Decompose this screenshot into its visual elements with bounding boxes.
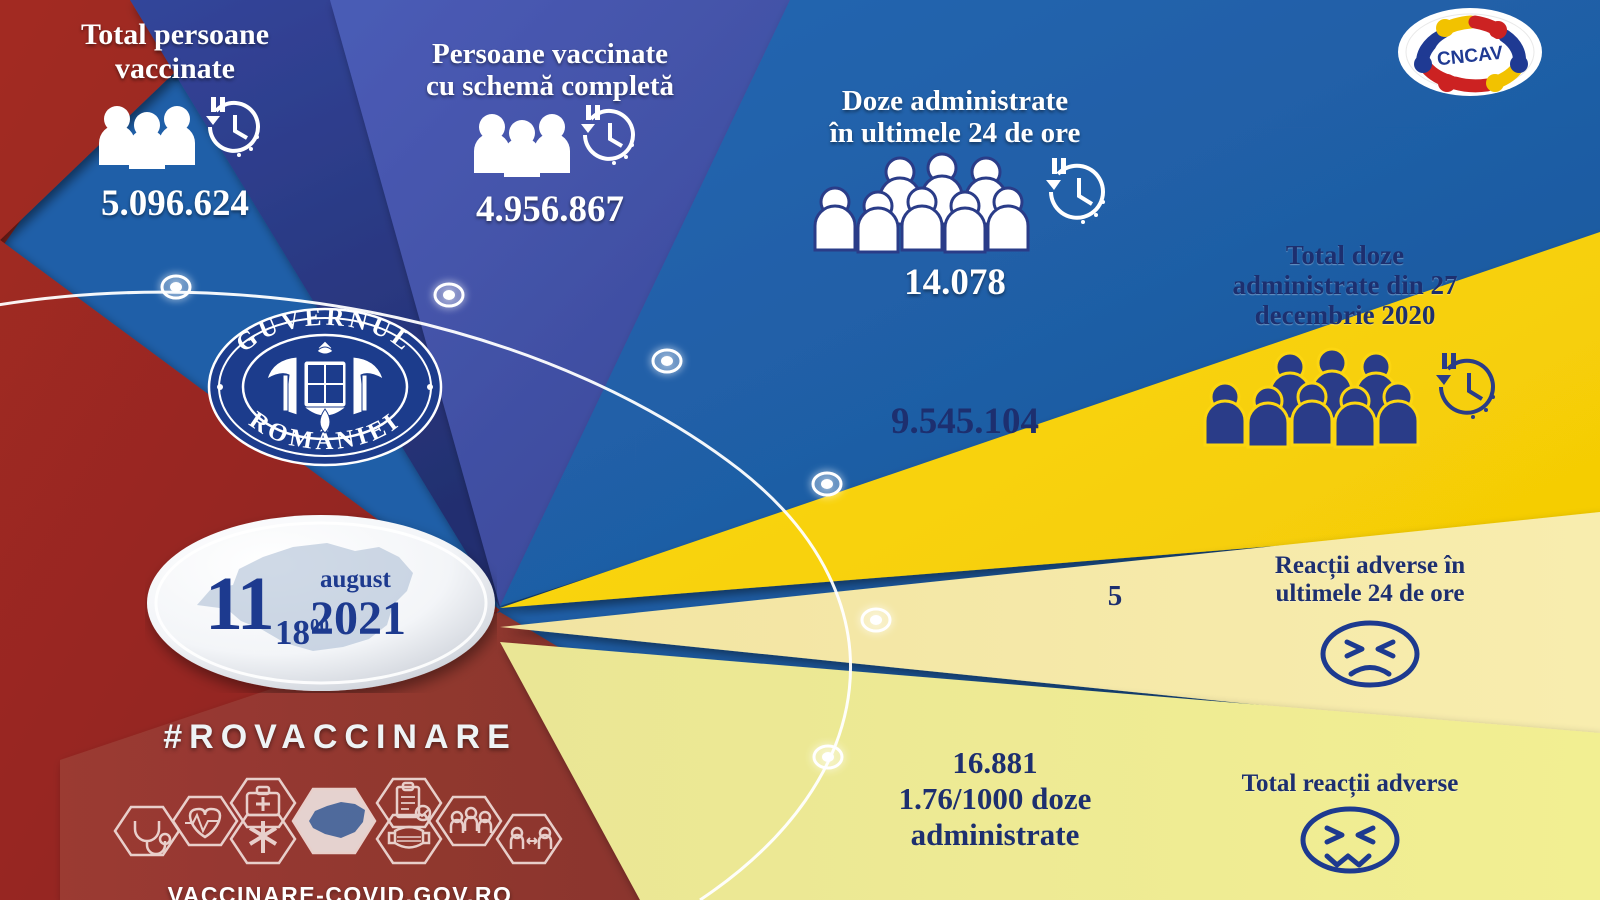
- value-line1: 16.881: [830, 745, 1160, 781]
- people-clock-icon: [75, 95, 275, 175]
- heartbeat-icon: [173, 797, 237, 845]
- panel-title-line1: Total doze: [1150, 240, 1540, 270]
- panel-title-line1: Persoane vaccinate: [355, 38, 745, 70]
- panel-persoane-schema-completa: Persoane vaccinate cu schemă completă 4.…: [355, 38, 745, 230]
- panel-total-persoane-vaccinate: Total persoane vaccinate 5.096.624: [10, 18, 340, 225]
- panel-total-doze-administrate: Total doze administrate din 27 decembrie…: [1150, 240, 1540, 455]
- face-mask-icon: [377, 815, 441, 863]
- panel-value: 5.096.624: [10, 183, 340, 224]
- panel-title-line2: ultimele 24 de ore: [1190, 580, 1550, 608]
- value-line3: administrate: [830, 817, 1160, 853]
- panel-title-line1: Total persoane: [10, 18, 340, 52]
- brand-hashtag: #ROVACCINARE: [105, 718, 575, 757]
- panel-title-line1: Reacții adverse în: [1190, 552, 1550, 580]
- clipboard-check-icon: [377, 779, 441, 827]
- panel-title-line2: cu schemă completă: [355, 70, 745, 102]
- panel-title-line1: Doze administrate: [735, 85, 1175, 117]
- panel-reactii-adverse-24-ore: Reacții adverse în ultimele 24 de ore: [1190, 552, 1550, 690]
- panel-title-line2: în ultimele 24 de ore: [735, 117, 1175, 149]
- panel-title-line2: vaccinate: [10, 52, 340, 86]
- people-clock-icon: [450, 103, 650, 183]
- brand-url: VACCINARE-COVID.GOV.RO: [105, 882, 575, 900]
- star-of-life-icon: [231, 815, 295, 863]
- panel-doze-ultimele-24-ore: Doze administrate în ultimele 24 de ore …: [735, 85, 1175, 303]
- rovaccinare-brand-block: #ROVACCINARE: [105, 718, 575, 900]
- social-distancing-icon: [497, 815, 561, 863]
- panel-title-line2: administrate din 27: [1150, 270, 1540, 300]
- crowd-clock-icon: [1180, 345, 1510, 455]
- panel-value-reactii-24-ore: 5: [1060, 580, 1170, 613]
- date-day: 11: [205, 561, 273, 648]
- cncav-logo: CNCAV: [1395, 6, 1545, 98]
- crowd-icon: [437, 797, 501, 845]
- infographic-canvas: Total persoane vaccinate 5.096.624 Perso…: [0, 0, 1600, 900]
- value-line2: 1.76/1000 doze: [830, 781, 1160, 817]
- guvernul-romaniei-seal: GUVERNUL ROMÂNIEI: [205, 305, 445, 470]
- panel-title-line1: Total reacții adverse: [1140, 770, 1560, 798]
- panel-value: 4.956.867: [355, 189, 745, 230]
- sad-face-icon: [1315, 618, 1425, 690]
- crowd-clock-icon: [790, 150, 1120, 260]
- date-text-group: 11 august 2021 1800: [145, 513, 497, 693]
- stethoscope-icon: [115, 807, 179, 855]
- panel-value-total-doze: 9.545.104: [845, 400, 1085, 443]
- hex-icon-row: [105, 763, 575, 873]
- panel-value: 14.078: [735, 262, 1175, 303]
- date-month: august: [320, 566, 391, 594]
- panel-value-total-reactii: 16.881 1.76/1000 doze administrate: [830, 745, 1160, 853]
- first-aid-kit-icon: [231, 779, 295, 827]
- panel-total-reactii-adverse: Total reacții adverse: [1140, 770, 1560, 876]
- date-hour: 1800: [275, 613, 329, 653]
- panel-title-line3: decembrie 2020: [1150, 300, 1540, 330]
- romania-map-icon: [293, 789, 375, 853]
- dizzy-face-icon: [1295, 804, 1405, 876]
